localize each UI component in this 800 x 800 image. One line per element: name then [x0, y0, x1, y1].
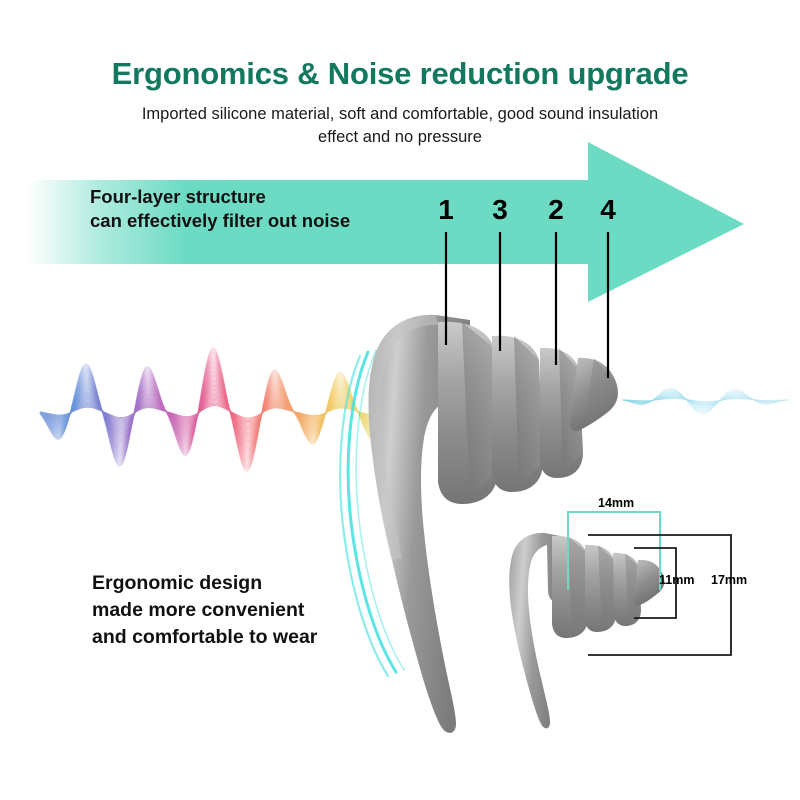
subtitle-line1: Imported silicone material, soft and com… — [80, 103, 720, 126]
dimension-label-17mm: 17mm — [711, 573, 747, 587]
infographic-canvas: Four-layer structure can effectively fil… — [0, 0, 800, 800]
dimension-label-14mm: 14mm — [598, 496, 634, 510]
page-subtitle: Imported silicone material, soft and com… — [80, 103, 720, 149]
bracket-14mm — [568, 512, 660, 590]
page-title: Ergonomics & Noise reduction upgrade — [0, 56, 800, 92]
subtitle-line2: effect and no pressure — [80, 126, 720, 149]
dimension-label-11mm: 11mm — [659, 573, 694, 587]
